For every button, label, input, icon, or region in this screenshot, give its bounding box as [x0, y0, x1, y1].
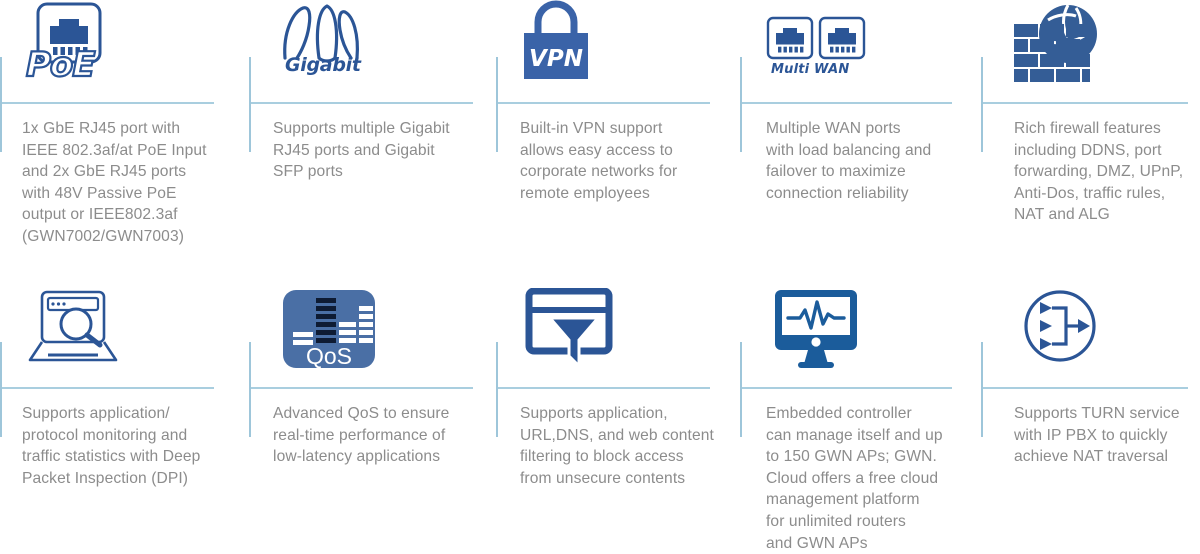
card-divider-horizontal [2, 387, 214, 389]
feature-description: Multiple WAN ports with load balancing a… [766, 118, 978, 204]
card-divider-horizontal [983, 102, 1188, 104]
card-divider-horizontal [251, 387, 473, 389]
nat-traversal-icon [1010, 288, 1200, 388]
feature-card-turn: Supports TURN service with IP PBX to qui… [980, 280, 1200, 544]
card-divider-horizontal [983, 387, 1188, 389]
card-divider-vertical [496, 57, 498, 152]
feature-grid-board: PoE 1x GbE RJ45 port with IEEE 802.3af/a… [0, 0, 1200, 544]
feature-card-multi-wan: Multi WAN Multiple WAN ports with load b… [740, 0, 980, 280]
feature-card-controller: Embedded controller can manage itself an… [740, 280, 980, 544]
svg-text:VPN: VPN [529, 46, 583, 72]
multi-wan-wordmark: Multi WAN [771, 60, 849, 78]
card-divider-vertical [249, 57, 251, 152]
feature-description: Advanced QoS to ensure real-time perform… [273, 403, 483, 468]
feature-card-qos: QoS Advanced QoS to ensure real-time per… [245, 280, 495, 544]
card-divider-vertical [740, 57, 742, 152]
feature-description: Embedded controller can manage itself an… [766, 403, 978, 554]
card-divider-horizontal [742, 387, 952, 389]
card-divider-vertical [981, 342, 983, 437]
laptop-magnifier-icon [22, 288, 222, 388]
card-divider-horizontal [498, 102, 710, 104]
feature-card-firewall: Rich firewall features including DDNS, p… [980, 0, 1200, 280]
poe-wordmark: PoE [26, 48, 95, 82]
card-divider-horizontal [742, 102, 952, 104]
feature-description: Supports application/ protocol monitorin… [22, 403, 227, 489]
feature-description: 1x GbE RJ45 port with IEEE 802.3af/at Po… [22, 118, 227, 248]
gigabit-wordmark: Gigabit [285, 56, 361, 76]
card-divider-vertical [0, 342, 2, 437]
card-divider-vertical [249, 342, 251, 437]
gigabit-icon [273, 0, 473, 100]
firewall-brick-globe-icon [1010, 0, 1200, 100]
feature-description: Supports application, URL,DNS, and web c… [520, 403, 725, 489]
monitor-pulse-icon [766, 288, 966, 388]
feature-card-dpi: Supports application/ protocol monitorin… [0, 280, 245, 544]
card-divider-horizontal [498, 387, 710, 389]
feature-card-content-filter: Supports application, URL,DNS, and web c… [495, 280, 740, 544]
card-divider-horizontal [2, 102, 214, 104]
feature-grid: PoE 1x GbE RJ45 port with IEEE 802.3af/a… [0, 0, 1200, 544]
vpn-lock-icon: VPN [520, 0, 720, 100]
feature-description: Built-in VPN support allows easy access … [520, 118, 725, 204]
feature-card-gigabit: Gigabit Supports multiple Gigabit RJ45 p… [245, 0, 495, 280]
card-divider-vertical [981, 57, 983, 152]
card-divider-vertical [0, 57, 2, 152]
feature-card-poe: PoE 1x GbE RJ45 port with IEEE 802.3af/a… [0, 0, 245, 280]
svg-text:QoS: QoS [306, 343, 352, 369]
web-filter-funnel-icon [520, 288, 720, 388]
card-divider-vertical [496, 342, 498, 437]
qos-equalizer-icon: QoS [273, 288, 473, 388]
feature-card-vpn: VPN Built-in VPN support allows easy acc… [495, 0, 740, 280]
card-divider-horizontal [251, 102, 473, 104]
feature-description: Supports multiple Gigabit RJ45 ports and… [273, 118, 483, 183]
feature-description: Rich firewall features including DDNS, p… [1014, 118, 1200, 226]
feature-description: Supports TURN service with IP PBX to qui… [1014, 403, 1200, 468]
multi-wan-icon [766, 0, 966, 100]
card-divider-vertical [740, 342, 742, 437]
